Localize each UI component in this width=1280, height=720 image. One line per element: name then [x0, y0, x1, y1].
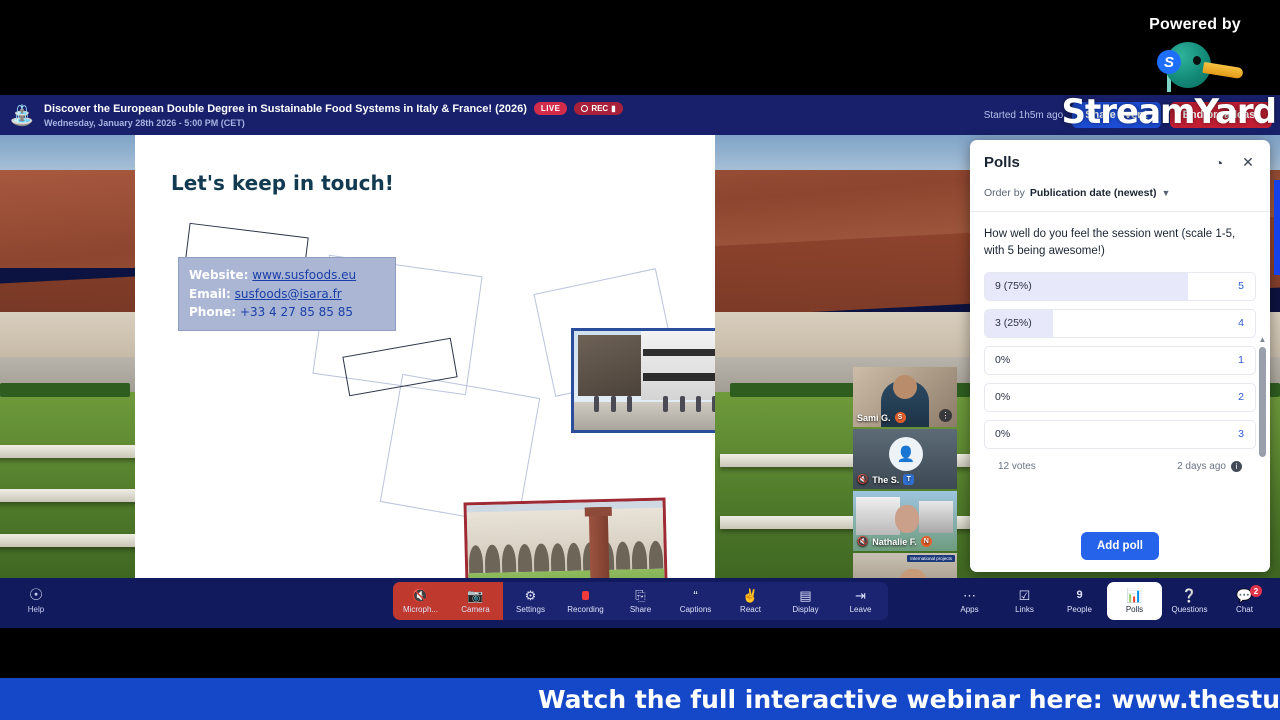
- leave-button[interactable]: ⇥ Leave: [833, 582, 888, 620]
- contact-value: susfoods@isara.fr: [235, 287, 342, 301]
- toolbar-center-group: 🔇 Microph... 📷 Camera ⚙ Settings Recordi…: [393, 582, 888, 620]
- right-edge-accent: [1274, 180, 1280, 275]
- recording-button[interactable]: Recording: [558, 582, 613, 620]
- links-button[interactable]: ☑ Links: [997, 582, 1052, 620]
- hide-polls-icon[interactable]: ◔: [1211, 155, 1227, 171]
- share-screen-button[interactable]: ⎘ Share: [613, 582, 668, 620]
- powered-by-label: Powered by: [1149, 16, 1241, 34]
- captions-button[interactable]: “ Captions: [668, 582, 723, 620]
- bottom-letterbox: [0, 628, 1280, 678]
- powered-by-badge: Powered by S: [1120, 16, 1270, 96]
- poll-card: How well do you feel the session went (s…: [970, 212, 1270, 528]
- poll-option-row[interactable]: 3 (25%) 4: [984, 309, 1256, 338]
- toolbar-right-group: ⋯ Apps ☑ Links 9 People 📊 Polls ❔ Questi…: [942, 582, 1272, 620]
- contact-line: Phone: +33 4 27 85 85 85: [189, 303, 385, 322]
- order-by-value: Publication date (newest): [1030, 187, 1157, 199]
- contact-label: Phone:: [189, 305, 236, 319]
- questions-button[interactable]: ❔ Questions: [1162, 582, 1217, 620]
- display-button[interactable]: ▤ Display: [778, 582, 833, 620]
- contact-value: www.susfoods.eu: [252, 268, 356, 282]
- settings-label: Settings: [516, 605, 545, 614]
- contact-line: Website: www.susfoods.eu: [189, 266, 385, 285]
- participant-avatar-badge: N: [921, 536, 932, 547]
- help-icon: ☉: [18, 585, 54, 605]
- event-logo-icon: ⛲: [0, 95, 44, 135]
- poll-option-number: 4: [1238, 317, 1255, 329]
- polls-order-by[interactable]: Order by Publication date (newest) ▼: [970, 181, 1270, 211]
- participant-name: Nathalie F.: [872, 537, 917, 547]
- chevron-down-icon[interactable]: ▼: [1161, 188, 1170, 198]
- share-event-button[interactable]: Share event: [1072, 102, 1160, 128]
- participant-banner-chip: International projects: [907, 555, 955, 562]
- participant-tile[interactable]: 🔇 Nathalie F. N: [853, 491, 957, 551]
- microphone-off-icon: 🔇: [857, 474, 868, 485]
- contact-label: Website:: [189, 268, 248, 282]
- questions-label: Questions: [1171, 605, 1207, 614]
- poll-option-number: 3: [1238, 428, 1255, 440]
- recording-label: Recording: [567, 605, 603, 614]
- help-button[interactable]: ☉ Help: [18, 585, 54, 614]
- participant-tile[interactable]: International projects Luigi L. L: [853, 553, 957, 578]
- tile-options-icon[interactable]: ⋮: [939, 409, 952, 422]
- poll-option-result: 0%: [985, 391, 1010, 403]
- react-label: React: [740, 605, 761, 614]
- poll-option-number: 5: [1238, 280, 1255, 292]
- end-broadcast-button[interactable]: End broadcast: [1170, 102, 1272, 128]
- participant-avatar-badge: T: [903, 474, 914, 485]
- poll-option-row[interactable]: 9 (75%) 5: [984, 272, 1256, 301]
- microphone-button[interactable]: 🔇 Microph...: [393, 582, 448, 620]
- poll-option-result: 0%: [985, 428, 1010, 440]
- poll-option-number: 1: [1238, 354, 1255, 366]
- event-info: Discover the European Double Degree in S…: [44, 102, 623, 128]
- info-icon[interactable]: i: [1231, 461, 1242, 472]
- polls-scrollbar[interactable]: ▲ ▼: [1258, 335, 1267, 572]
- live-badge: LIVE: [534, 102, 567, 115]
- participant-tile[interactable]: Sami G. S ⋮: [853, 367, 957, 427]
- participant-name: The S.: [872, 475, 899, 485]
- duck-s-badge: S: [1157, 50, 1181, 74]
- participant-avatar-badge: S: [895, 412, 906, 423]
- react-icon: ✌: [742, 589, 758, 602]
- microphone-off-icon: 🔇: [412, 589, 428, 602]
- settings-button[interactable]: ⚙ Settings: [503, 582, 558, 620]
- close-icon[interactable]: ✕: [1240, 155, 1256, 171]
- poll-footer: 12 votes 2 days ago i: [984, 457, 1256, 472]
- poll-option-row[interactable]: 0% 2: [984, 383, 1256, 412]
- camera-label: Camera: [461, 605, 489, 614]
- rec-device-icon: ▮: [611, 104, 615, 113]
- captions-icon: “: [693, 589, 697, 602]
- event-header-bar: ⛲ Discover the European Double Degree in…: [0, 95, 1280, 135]
- default-avatar-icon: 👤: [889, 437, 923, 471]
- poll-vote-count: 12 votes: [998, 461, 1036, 472]
- microphone-label: Microph...: [403, 605, 438, 614]
- scrollbar-thumb[interactable]: [1259, 347, 1266, 457]
- layout-icon: ▤: [799, 589, 811, 602]
- contact-label: Email:: [189, 287, 231, 301]
- camera-off-icon: 📷: [467, 589, 483, 602]
- rec-dot-icon: [581, 105, 588, 112]
- cloister-courtyard-photo: [464, 498, 669, 578]
- question-mark-icon: ❔: [1181, 589, 1197, 602]
- contact-line: Email: susfoods@isara.fr: [189, 285, 385, 304]
- contact-value: +33 4 27 85 85 85: [240, 305, 353, 319]
- captions-label: Captions: [680, 605, 712, 614]
- event-header-actions: Started 1h5m ago Share event End broadca…: [984, 102, 1280, 128]
- poll-option-result: 0%: [985, 354, 1010, 366]
- participant-name: Sami G.: [857, 413, 891, 423]
- leave-label: Leave: [850, 605, 872, 614]
- polls-panel: Polls ◔ ✕ Order by Publication date (new…: [970, 140, 1270, 572]
- poll-option-row[interactable]: 0% 1: [984, 346, 1256, 375]
- chat-unread-badge: 2: [1250, 585, 1262, 597]
- slide-title: Let's keep in touch!: [171, 171, 394, 195]
- polls-button[interactable]: 📊 Polls: [1107, 582, 1162, 620]
- scroll-up-icon[interactable]: ▲: [1258, 335, 1267, 344]
- poll-option-result: 3 (25%): [985, 317, 1032, 329]
- apps-button[interactable]: ⋯ Apps: [942, 582, 997, 620]
- polls-label: Polls: [1126, 605, 1143, 614]
- campus-building-photo: [571, 328, 715, 433]
- chat-button[interactable]: 💬 Chat 2: [1217, 582, 1272, 620]
- poll-option-row[interactable]: 0% 3: [984, 420, 1256, 449]
- top-letterbox: [0, 0, 1280, 95]
- chat-label: Chat: [1236, 605, 1253, 614]
- microphone-off-icon: 🔇: [857, 536, 868, 547]
- rec-badge: REC ▮: [574, 102, 622, 115]
- help-label: Help: [18, 605, 54, 614]
- poll-option-result: 9 (75%): [985, 280, 1032, 292]
- shared-slide: Let's keep in touch! Website: www.susfoo…: [135, 135, 715, 578]
- apps-label: Apps: [960, 605, 978, 614]
- poll-question: How well do you feel the session went (s…: [984, 226, 1256, 261]
- react-button[interactable]: ✌ React: [723, 582, 778, 620]
- started-label: Started 1h5m ago: [984, 110, 1064, 121]
- people-button[interactable]: 9 People: [1052, 582, 1107, 620]
- add-poll-button[interactable]: Add poll: [1081, 532, 1159, 560]
- order-by-label: Order by: [984, 187, 1025, 199]
- bar-chart-icon: 📊: [1126, 589, 1142, 602]
- polls-panel-header: Polls ◔ ✕: [970, 140, 1270, 181]
- event-title: Discover the European Double Degree in S…: [44, 103, 527, 115]
- polls-panel-title: Polls: [984, 154, 1020, 171]
- leave-icon: ⇥: [855, 589, 866, 602]
- participant-tiles: Sami G. S ⋮ 👤 🔇 The S. T 🔇 Nathalie F: [853, 367, 957, 578]
- camera-button[interactable]: 📷 Camera: [448, 582, 503, 620]
- share-screen-icon: ⎘: [635, 589, 645, 602]
- display-label: Display: [792, 605, 818, 614]
- gear-icon: ⚙: [525, 589, 537, 602]
- links-icon: ☑: [1019, 589, 1031, 602]
- duck-mascot-icon: S: [1147, 38, 1243, 92]
- promo-banner-text: Watch the full interactive webinar here:…: [0, 685, 1280, 714]
- record-icon: [582, 589, 589, 602]
- promo-banner: Watch the full interactive webinar here:…: [0, 678, 1280, 720]
- bottom-toolbar: ☉ Help 🔇 Microph... 📷 Camera ⚙ Settings: [0, 578, 1280, 628]
- people-count: 9: [1076, 589, 1082, 602]
- poll-option-number: 2: [1238, 391, 1255, 403]
- contact-box: Website: www.susfoods.eu Email: susfoods…: [178, 257, 396, 331]
- people-label: People: [1067, 605, 1092, 614]
- ellipsis-icon: ⋯: [963, 589, 976, 602]
- links-label: Links: [1015, 605, 1034, 614]
- rec-badge-label: REC: [591, 104, 608, 113]
- participant-tile[interactable]: 👤 🔇 The S. T: [853, 429, 957, 489]
- polls-footer: Add poll: [970, 520, 1270, 572]
- poll-age: 2 days ago: [1177, 461, 1226, 472]
- share-label: Share: [630, 605, 651, 614]
- event-datetime: Wednesday, January 28th 2026 - 5:00 PM (…: [44, 118, 623, 128]
- webinar-studio-screen: Powered by S ⛲ Discover the European Dou…: [0, 0, 1280, 720]
